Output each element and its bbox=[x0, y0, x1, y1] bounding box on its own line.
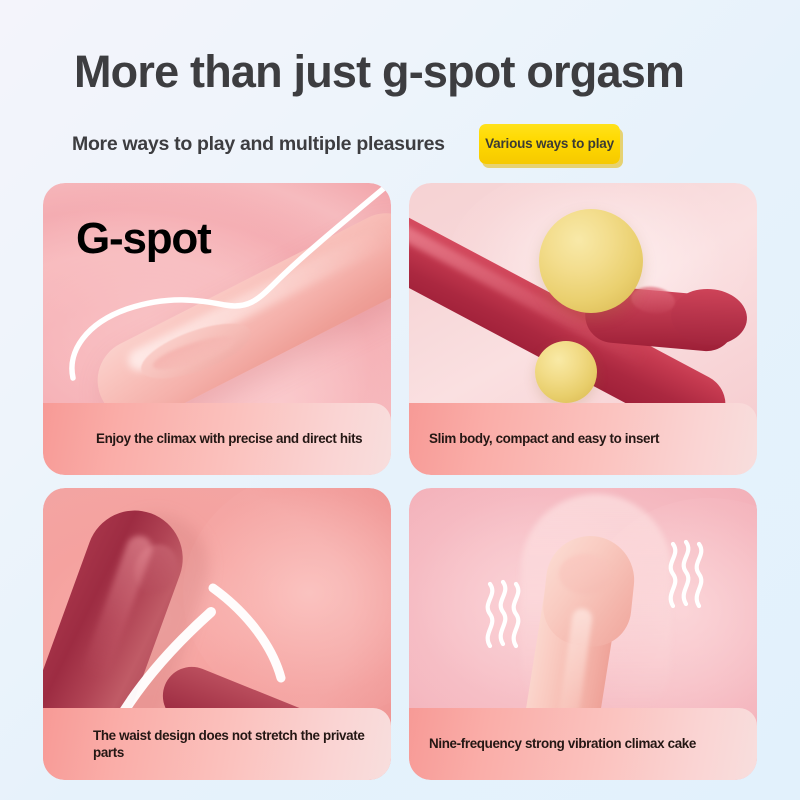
feature-card-waist-design[interactable]: The waist design does not stretch the pr… bbox=[43, 488, 391, 780]
feature-card-nine-frequency[interactable]: Nine-frequency strong vibration climax c… bbox=[409, 488, 757, 780]
vibration-wave-icon-right bbox=[664, 536, 714, 616]
feature-card-slim-body[interactable]: Slim body, compact and easy to insert bbox=[409, 183, 757, 475]
card-caption-strip: Nine-frequency strong vibration climax c… bbox=[409, 708, 757, 780]
header: More than just g-spot orgasm More ways t… bbox=[0, 0, 800, 176]
card-caption-strip: The waist design does not stretch the pr… bbox=[43, 708, 391, 780]
caption-text: Nine-frequency strong vibration climax c… bbox=[409, 735, 706, 752]
badge-label: Various ways to play bbox=[481, 136, 618, 151]
yellow-sphere-large bbox=[539, 209, 643, 313]
card-caption-strip: Enjoy the climax with precise and direct… bbox=[43, 403, 391, 475]
feature-card-g-spot[interactable]: G-spot Enjoy the climax with precise and… bbox=[43, 183, 391, 475]
vibration-wave-icon-left bbox=[481, 576, 531, 656]
card-caption-strip: Slim body, compact and easy to insert bbox=[409, 403, 757, 475]
caption-text: The waist design does not stretch the pr… bbox=[43, 727, 391, 761]
product-ridge-shape bbox=[559, 554, 611, 594]
subtitle: More ways to play and multiple pleasures bbox=[72, 133, 445, 156]
caption-text: Enjoy the climax with precise and direct… bbox=[43, 430, 372, 447]
caption-text: Slim body, compact and easy to insert bbox=[409, 430, 669, 447]
feature-card-grid: G-spot Enjoy the climax with precise and… bbox=[43, 183, 757, 785]
yellow-sphere-small bbox=[535, 341, 597, 403]
various-ways-badge: Various ways to play bbox=[479, 124, 620, 164]
page-title: More than just g-spot orgasm bbox=[74, 48, 684, 95]
g-spot-label: G-spot bbox=[76, 217, 211, 261]
